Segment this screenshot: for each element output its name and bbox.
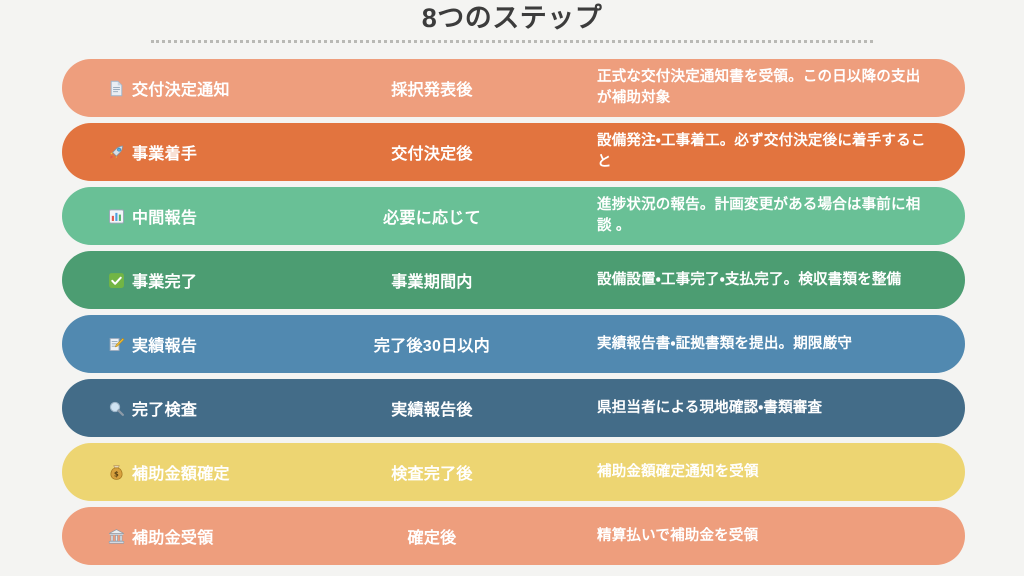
memo-pencil-icon [108, 336, 125, 353]
step-name-label: 事業着手 [132, 140, 197, 164]
step-row[interactable]: 補助金受領確定後精算払いで補助金を受領 [62, 507, 965, 565]
step-timing-label: 交付決定後 [307, 140, 557, 164]
step-name-label: 交付決定通知 [132, 76, 230, 100]
step-timing-label: 事業期間内 [307, 268, 557, 292]
step-timing-label: 実績報告後 [307, 396, 557, 420]
step-timing-label: 検査完了後 [307, 460, 557, 484]
step-name-label: 実績報告 [132, 332, 197, 356]
step-name-cell: 事業着手 [62, 140, 307, 164]
page-title: 8つのステップ [0, 2, 1024, 34]
step-name-label: 補助金受領 [132, 524, 214, 548]
step-timing-label: 採択発表後 [307, 76, 557, 100]
rocket-icon [108, 144, 125, 161]
step-description-label: 県担当者による現地確認・書類審査 [557, 398, 965, 419]
step-name-cell: 事業完了 [62, 268, 307, 292]
title-block: 8つのステップ [0, 0, 1024, 50]
step-description-label: 設備発注・工事着工。必ず交付決定後に着手すること [557, 131, 965, 173]
money-bag-icon: $ [108, 464, 125, 481]
step-name-label: 中間報告 [132, 204, 197, 228]
magnifier-icon [108, 400, 125, 417]
step-name-cell: 交付決定通知 [62, 76, 307, 100]
step-name-cell: 補助金受領 [62, 524, 307, 548]
steps-list: 交付決定通知採択発表後正式な交付決定通知書を受領。この日以降の支出が補助対象事業… [62, 59, 965, 571]
document-icon [108, 80, 125, 97]
step-timing-label: 確定後 [307, 524, 557, 548]
svg-text:$: $ [114, 470, 119, 478]
step-description-label: 実績報告書・証拠書類を提出。期限厳守 [557, 334, 965, 355]
step-row[interactable]: 中間報告必要に応じて進捗状況の報告。計画変更がある場合は事前に相談 。 [62, 187, 965, 245]
step-name-cell: 完了検査 [62, 396, 307, 420]
step-row[interactable]: $補助金額確定検査完了後補助金額確定通知を受領 [62, 443, 965, 501]
step-timing-label: 必要に応じて [307, 204, 557, 228]
step-row[interactable]: 実績報告完了後30日以内実績報告書・証拠書類を提出。期限厳守 [62, 315, 965, 373]
step-timing-label: 完了後30日以内 [307, 332, 557, 356]
step-description-label: 進捗状況の報告。計画変更がある場合は事前に相談 。 [557, 195, 965, 237]
step-name-cell: 実績報告 [62, 332, 307, 356]
title-divider [151, 40, 873, 43]
step-name-label: 事業完了 [132, 268, 197, 292]
step-description-label: 補助金額確定通知を受領 [557, 462, 965, 483]
slide-canvas: 8つのステップ 交付決定通知採択発表後正式な交付決定通知書を受領。この日以降の支… [0, 0, 1024, 576]
step-name-label: 完了検査 [132, 396, 197, 420]
step-row[interactable]: 交付決定通知採択発表後正式な交付決定通知書を受領。この日以降の支出が補助対象 [62, 59, 965, 117]
step-description-label: 正式な交付決定通知書を受領。この日以降の支出が補助対象 [557, 67, 965, 109]
check-mark-icon [108, 272, 125, 289]
step-name-cell: 中間報告 [62, 204, 307, 228]
bar-chart-icon [108, 208, 125, 225]
step-row[interactable]: 完了検査実績報告後県担当者による現地確認・書類審査 [62, 379, 965, 437]
step-name-label: 補助金額確定 [132, 460, 230, 484]
step-row[interactable]: 事業完了事業期間内設備設置・工事完了・支払完了。検収書類を整備 [62, 251, 965, 309]
step-description-label: 設備設置・工事完了・支払完了。検収書類を整備 [557, 270, 965, 291]
step-row[interactable]: 事業着手交付決定後設備発注・工事着工。必ず交付決定後に着手すること [62, 123, 965, 181]
bank-icon [108, 528, 125, 545]
step-name-cell: $補助金額確定 [62, 460, 307, 484]
step-description-label: 精算払いで補助金を受領 [557, 526, 965, 547]
